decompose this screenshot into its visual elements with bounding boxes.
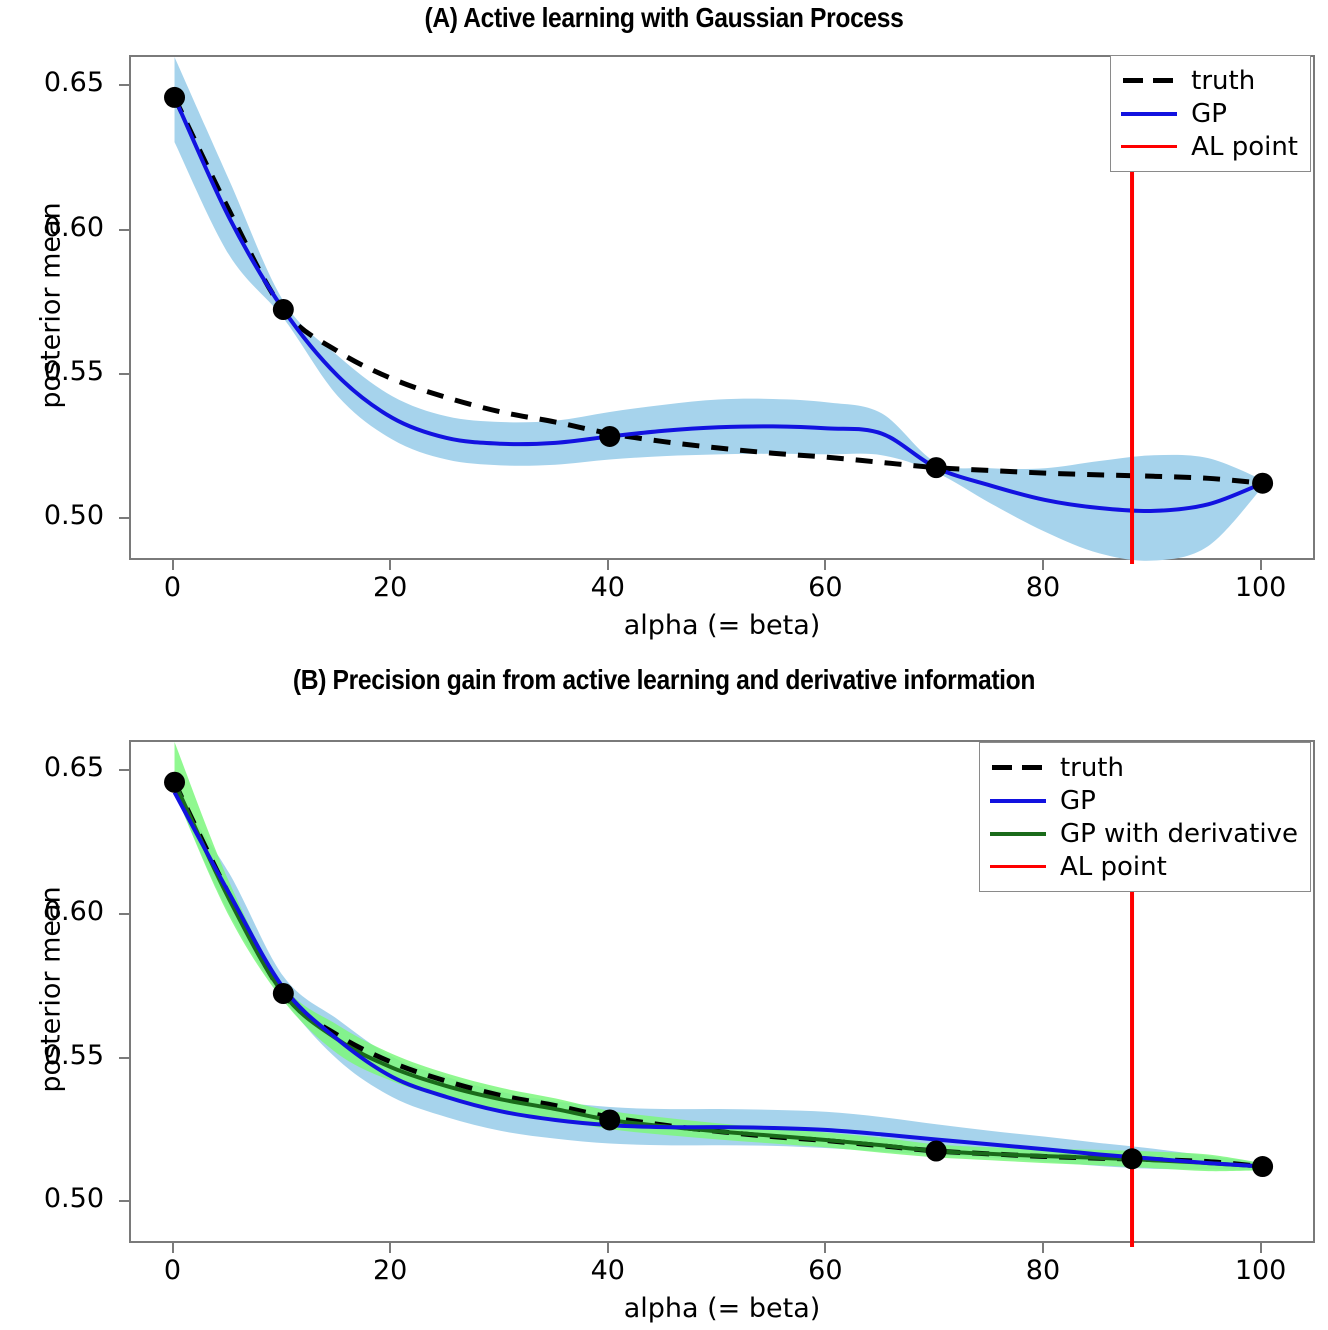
x-tick-mark bbox=[607, 560, 609, 570]
legend-item-label: GP bbox=[1060, 788, 1096, 814]
x-tick-label: 40 bbox=[548, 572, 668, 603]
x-tick-mark bbox=[389, 560, 391, 570]
x-tick-mark bbox=[1042, 560, 1044, 570]
observed-point bbox=[599, 1109, 620, 1130]
observed-point bbox=[164, 87, 185, 108]
x-tick-mark bbox=[389, 1243, 391, 1253]
x-tick-label: 60 bbox=[765, 1255, 885, 1286]
gp-uncertainty-band bbox=[175, 57, 1263, 561]
panel-a-title: (A) Active learning with Gaussian Proces… bbox=[80, 2, 1249, 34]
panel-b: (B) Precision gain from active learning … bbox=[0, 660, 1328, 1330]
legend-solid-line-icon bbox=[1121, 137, 1177, 157]
y-tick-mark bbox=[119, 769, 129, 771]
legend-item-label: truth bbox=[1060, 755, 1124, 781]
legend-dashed-line-icon bbox=[1121, 71, 1177, 91]
legend-item[interactable]: GP with derivative bbox=[990, 817, 1298, 850]
y-tick-mark bbox=[119, 913, 129, 915]
panel-a: (A) Active learning with Gaussian Proces… bbox=[0, 0, 1328, 660]
y-tick-mark bbox=[119, 373, 129, 375]
y-tick-mark bbox=[119, 1057, 129, 1059]
legend-item-label: AL point bbox=[1060, 854, 1167, 880]
legend-item[interactable]: GP bbox=[990, 784, 1298, 817]
x-tick-label: 0 bbox=[113, 1255, 233, 1286]
y-tick-label: 0.60 bbox=[0, 212, 104, 243]
legend-solid-line-icon bbox=[990, 857, 1046, 877]
x-tick-mark bbox=[1260, 560, 1262, 570]
x-tick-mark bbox=[824, 1243, 826, 1253]
legend-dashed-line-icon bbox=[990, 758, 1046, 778]
x-tick-label: 60 bbox=[765, 572, 885, 603]
y-tick-label: 0.65 bbox=[0, 67, 104, 98]
panel-a-legend: truthGPAL point bbox=[1110, 55, 1311, 172]
observed-point bbox=[1122, 1148, 1143, 1169]
legend-item[interactable]: AL point bbox=[1121, 130, 1298, 163]
observed-point bbox=[1252, 473, 1273, 494]
panel-b-legend: truthGPGP with derivativeAL point bbox=[979, 742, 1311, 892]
legend-item-label: AL point bbox=[1191, 134, 1298, 160]
observed-point bbox=[599, 426, 620, 447]
x-tick-mark bbox=[1260, 1243, 1262, 1253]
x-tick-label: 20 bbox=[330, 572, 450, 603]
legend-item-label: GP bbox=[1191, 101, 1227, 127]
panel-a-x-axis-label: alpha (= beta) bbox=[129, 610, 1315, 641]
x-tick-label: 20 bbox=[330, 1255, 450, 1286]
y-tick-label: 0.50 bbox=[0, 500, 104, 531]
legend-item-label: GP with derivative bbox=[1060, 821, 1298, 847]
y-tick-label: 0.55 bbox=[0, 356, 104, 387]
legend-item[interactable]: GP bbox=[1121, 97, 1298, 130]
y-tick-label: 0.55 bbox=[0, 1040, 104, 1071]
y-tick-label: 0.60 bbox=[0, 896, 104, 927]
panel-b-x-axis-label: alpha (= beta) bbox=[129, 1293, 1315, 1324]
observed-point bbox=[273, 299, 294, 320]
observed-point bbox=[164, 772, 185, 793]
x-tick-mark bbox=[172, 1243, 174, 1253]
y-tick-mark bbox=[119, 229, 129, 231]
legend-solid-line-icon bbox=[990, 824, 1046, 844]
observed-point bbox=[926, 1141, 947, 1162]
legend-solid-line-icon bbox=[1121, 104, 1177, 124]
legend-item-label: truth bbox=[1191, 68, 1255, 94]
figure-root: (A) Active learning with Gaussian Proces… bbox=[0, 0, 1328, 1330]
observed-point bbox=[1252, 1156, 1273, 1177]
legend-solid-line-icon bbox=[990, 791, 1046, 811]
observed-point bbox=[926, 457, 947, 478]
y-tick-mark bbox=[119, 517, 129, 519]
x-tick-mark bbox=[607, 1243, 609, 1253]
legend-item[interactable]: truth bbox=[1121, 64, 1298, 97]
x-tick-label: 100 bbox=[1201, 572, 1321, 603]
x-tick-label: 80 bbox=[983, 1255, 1103, 1286]
x-tick-label: 40 bbox=[548, 1255, 668, 1286]
panel-b-title: (B) Precision gain from active learning … bbox=[80, 664, 1249, 696]
panel-a-y-axis-label: posterior mean bbox=[36, 155, 67, 455]
y-tick-mark bbox=[119, 1200, 129, 1202]
legend-item[interactable]: AL point bbox=[990, 850, 1298, 883]
observed-point bbox=[273, 983, 294, 1004]
y-tick-label: 0.65 bbox=[0, 752, 104, 783]
x-tick-mark bbox=[1042, 1243, 1044, 1253]
y-tick-label: 0.50 bbox=[0, 1183, 104, 1214]
x-tick-label: 80 bbox=[983, 572, 1103, 603]
x-tick-label: 0 bbox=[113, 572, 233, 603]
x-tick-mark bbox=[172, 560, 174, 570]
x-tick-label: 100 bbox=[1201, 1255, 1321, 1286]
legend-item[interactable]: truth bbox=[990, 751, 1298, 784]
panel-b-y-axis-label: posterior mean bbox=[36, 839, 67, 1139]
x-tick-mark bbox=[824, 560, 826, 570]
y-tick-mark bbox=[119, 84, 129, 86]
